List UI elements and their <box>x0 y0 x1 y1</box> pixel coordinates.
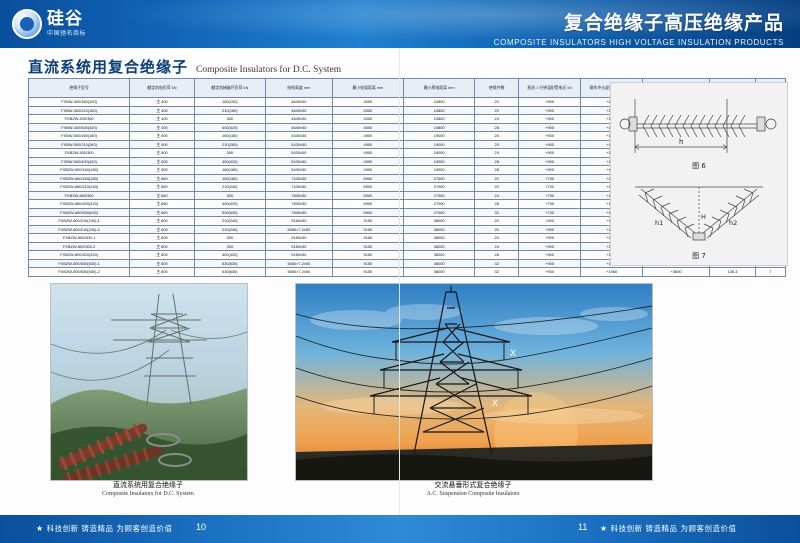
cell-value: 32 <box>475 259 519 268</box>
cell-model: FXBZW-400/300 <box>29 115 130 124</box>
caption-right-en: A.C. Suspension Composite Insulators <box>295 490 651 498</box>
col-header-2: 额定机械破坏负荷 kN <box>194 79 265 98</box>
cell-value: +900 <box>519 115 581 124</box>
cell-value: 9150 <box>332 242 403 251</box>
cell-model: FXBZW-500/300 <box>29 149 130 158</box>
caption-left-en: Composite Insulators for D.C. System <box>50 490 246 498</box>
cell-value: 210(260) <box>194 140 265 149</box>
cell-value: 300 <box>194 149 265 158</box>
cell-value: 6900 <box>332 191 403 200</box>
cell-model: FXBW-500/160(180) <box>29 132 130 141</box>
cell-value: +730 <box>519 191 581 200</box>
cell-value: 28 <box>475 123 519 132</box>
cell-value: 4900 <box>332 140 403 149</box>
col-header-0: 绝缘子型号 <box>29 79 130 98</box>
cell-model: FXBW-400/210(160) <box>29 106 130 115</box>
company-logo: 硅谷 中国驰名商标 <box>12 4 130 44</box>
page-header: 硅谷 中国驰名商标 复合绝缘子高压绝缘产品 COMPOSITE INSULATO… <box>0 0 800 48</box>
cell-value: 4000 <box>332 98 403 107</box>
cell-value: 24 <box>475 115 519 124</box>
cell-value: 主 800 <box>130 234 194 243</box>
cell-value: +3600 <box>643 268 710 277</box>
cell-value: 7830±50 <box>265 200 332 209</box>
star-icon-right: ★ <box>600 524 608 533</box>
cell-value: 主 800 <box>130 259 194 268</box>
cell-value: 136.3 <box>710 268 756 277</box>
section-heading: 直流系统用复合绝缘子 Composite Insulators for D.C.… <box>28 56 772 80</box>
cell-model: FXBZW-800/400(420) <box>29 251 130 260</box>
cell-value: 20 <box>475 217 519 226</box>
cell-model: FXBZW-800/300-1 <box>29 234 130 243</box>
cell-model: FXBZW-660/400(420) <box>29 200 130 209</box>
col-header-7: 直流 1 分钟湿耐受电压 kV <box>519 79 581 98</box>
cell-value: 9160±50 <box>265 242 332 251</box>
col-header-6: 绝缘件数 <box>475 79 519 98</box>
footer-slogan-right-text: 科技创新 铸造精品 为顾客创造价值 <box>611 524 737 533</box>
cell-value: 主 500 <box>130 157 194 166</box>
cell-value: +900 <box>519 166 581 175</box>
page-gutter <box>399 48 400 515</box>
cell-value: 210(240) <box>194 225 265 234</box>
cell-value: 9150 <box>332 251 403 260</box>
footer-slogan-left-text: 科技创新 铸造精品 为顾客创造价值 <box>47 524 173 533</box>
cell-value: 主 660 <box>130 208 194 217</box>
cell-value: 4640±50 <box>265 115 332 124</box>
cell-value: +900 <box>519 259 581 268</box>
cell-value: +900 <box>519 106 581 115</box>
cell-model: FXBZW-500/160(180) <box>29 166 130 175</box>
cell-value: 10800 <box>404 123 475 132</box>
cell-value: 400(420) <box>194 157 265 166</box>
cell-value: 27000 <box>404 183 475 192</box>
caption-right-cn: 交流悬垂形式复合绝缘子 <box>295 481 651 490</box>
footer-slogan-left: ★科技创新 铸造精品 为顾客创造价值 <box>36 523 172 534</box>
cell-value: 4900 <box>332 157 403 166</box>
cell-value: 36000 <box>404 217 475 226</box>
header-title-en: COMPOSITE INSULATORS HIGH VOLTAGE INSULA… <box>494 38 784 47</box>
cell-model: FXBZW-800/300-2 <box>29 242 130 251</box>
cell-value: 主 400 <box>130 106 194 115</box>
cell-value: 20 <box>475 106 519 115</box>
cell-value: +1960 <box>581 268 643 277</box>
logo-mark-icon <box>12 9 42 39</box>
cell-value: 7830±50 <box>265 191 332 200</box>
cell-value: 27000 <box>404 191 475 200</box>
cell-value: +730 <box>519 200 581 209</box>
caption-left-cn: 直流系统用复合绝缘子 <box>50 481 246 490</box>
figure-7-label: 图 7 <box>611 251 787 261</box>
cell-value: 36000 <box>404 242 475 251</box>
header-title: 复合绝缘子高压绝缘产品 COMPOSITE INSULATORS HIGH VO… <box>494 8 784 47</box>
dim-h-label: h <box>679 138 683 146</box>
cell-value: +900 <box>519 98 581 107</box>
cell-value: +900 <box>519 157 581 166</box>
cell-value: 5430±50 <box>265 132 332 141</box>
cell-value: 28 <box>475 157 519 166</box>
page-number-left: 10 <box>196 522 206 532</box>
cell-value: +730 <box>519 183 581 192</box>
cell-value: +900 <box>519 268 581 277</box>
cell-model: FXBZW-800/210(240)-1 <box>29 217 130 226</box>
cell-value: 32 <box>475 268 519 277</box>
cell-value: 160(100) <box>194 98 265 107</box>
cell-value: 5430±50 <box>265 140 332 149</box>
page-number-right: 11 <box>578 522 587 532</box>
cell-value: 28 <box>475 166 519 175</box>
cell-value: 36000 <box>404 259 475 268</box>
photo-marker-1: X <box>510 348 516 358</box>
cell-value: 530(630) <box>194 208 265 217</box>
cell-value: 5080×7.2±50 <box>265 259 332 268</box>
col-header-5: 最小爬电距离 mm <box>404 79 475 98</box>
cell-value: 400(420) <box>194 123 265 132</box>
logo-subtitle: 中国驰名商标 <box>47 31 86 37</box>
cell-value: 主 400 <box>130 123 194 132</box>
cell-value: 400(420) <box>194 200 265 209</box>
cell-value: 9150 <box>332 225 403 234</box>
cell-value: 9150 <box>332 217 403 226</box>
cell-value: 19000 <box>404 140 475 149</box>
cell-value: 24 <box>475 234 519 243</box>
cell-value: 210(240) <box>194 183 265 192</box>
cell-value: 300 <box>194 115 265 124</box>
cell-value: 7430±50 <box>265 183 332 192</box>
cell-value: 28 <box>475 251 519 260</box>
cell-value: 主 500 <box>130 166 194 175</box>
cell-value: 主 800 <box>130 251 194 260</box>
photo-dc-insulators <box>50 283 248 481</box>
cell-value: +900 <box>519 242 581 251</box>
cell-model: FXBZW-800/210(240)-2 <box>29 225 130 234</box>
cell-model: FXBZW-660/160(180) <box>29 174 130 183</box>
cell-value: 9160±50 <box>265 251 332 260</box>
cell-value: 20 <box>475 140 519 149</box>
cell-value: +900 <box>519 225 581 234</box>
logo-name-cn: 硅谷 <box>47 11 86 29</box>
cell-value: 24 <box>475 191 519 200</box>
cell-value: 27000 <box>404 200 475 209</box>
table-row: FXBZW-800/530(630)-2主 800530(630)5080×7.… <box>29 268 786 277</box>
cell-model: FXBZW-660/210(240) <box>29 183 130 192</box>
page-footer: ★科技创新 铸造精品 为顾客创造价值 10 11 ★科技创新 铸造精品 为顾客创… <box>0 515 800 543</box>
cell-value: 6900 <box>332 208 403 217</box>
cell-value: 20 <box>475 98 519 107</box>
cell-value: 28 <box>475 200 519 209</box>
cell-model: FXBZW-800/530(630)-1 <box>29 259 130 268</box>
photo-caption-right: 交流悬垂形式复合绝缘子 A.C. Suspension Composite In… <box>295 481 651 499</box>
cell-value: 24 <box>475 242 519 251</box>
cell-value: 24 <box>475 149 519 158</box>
dim-H-label: H <box>701 213 706 221</box>
cell-value: 32 <box>475 208 519 217</box>
cell-value: +900 <box>519 123 581 132</box>
cell-model: FXBZW-660/530(630) <box>29 208 130 217</box>
cell-value: +900 <box>519 140 581 149</box>
cell-value: 主 400 <box>130 115 194 124</box>
cell-value: 6900 <box>332 183 403 192</box>
cell-value: 6900 <box>332 174 403 183</box>
cell-value: 400(420) <box>194 251 265 260</box>
cell-value: 19000 <box>404 132 475 141</box>
figure-6-label: 图 6 <box>611 161 787 171</box>
cell-value: 4640±50 <box>265 106 332 115</box>
cell-value: 9160±50 <box>265 234 332 243</box>
cell-value: +900 <box>519 217 581 226</box>
cell-value: 20 <box>475 174 519 183</box>
cell-value: 主 660 <box>130 200 194 209</box>
section-title-cn: 直流系统用复合绝缘子 <box>28 56 188 77</box>
section-title-en: Composite Insulators for D.C. System <box>196 65 341 75</box>
cell-value: 36000 <box>404 268 475 277</box>
cell-value: 4000 <box>332 106 403 115</box>
cell-model: FXBW-400/400(420) <box>29 123 130 132</box>
cell-value: 20 <box>475 225 519 234</box>
cell-value: 主 800 <box>130 225 194 234</box>
cell-value: 5080×7.2±50 <box>265 268 332 277</box>
photo-caption-left: 直流系统用复合绝缘子 Composite Insulators for D.C.… <box>50 481 246 499</box>
cell-value: 4000 <box>332 123 403 132</box>
cell-value: +900 <box>519 132 581 141</box>
cell-value: 5430±50 <box>265 149 332 158</box>
cell-value: 4000 <box>332 115 403 124</box>
header-title-cn: 复合绝缘子高压绝缘产品 <box>494 8 784 35</box>
cell-value: 5430±50 <box>265 166 332 175</box>
cell-value: 36000 <box>404 234 475 243</box>
cell-value: 210(240) <box>194 217 265 226</box>
figure-panel: h <box>610 82 788 266</box>
cell-model: FXBW-400/160(100) <box>29 98 130 107</box>
cell-value: 7 <box>756 268 786 277</box>
cell-value: 19000 <box>404 149 475 158</box>
cell-value: 300 <box>194 191 265 200</box>
cell-value: 9150 <box>332 234 403 243</box>
footer-slogan-right: ★科技创新 铸造精品 为顾客创造价值 <box>600 523 736 534</box>
cell-value: 20 <box>475 132 519 141</box>
cell-value: 210(160) <box>194 106 265 115</box>
cell-value: 10800 <box>404 98 475 107</box>
cell-value: 20 <box>475 183 519 192</box>
cell-value: 10800 <box>404 106 475 115</box>
cell-value: 530(630) <box>194 259 265 268</box>
cell-value: 10800 <box>404 115 475 124</box>
cell-value: 主 500 <box>130 149 194 158</box>
cell-model: FXBW-500/400(420) <box>29 157 130 166</box>
col-header-1: 额定机电负荷 kN <box>130 79 194 98</box>
cell-value: 19000 <box>404 157 475 166</box>
insulator-diagram-icon: h <box>611 83 787 265</box>
col-header-3: 结构高度 mm <box>265 79 332 98</box>
cell-value: 160(180) <box>194 174 265 183</box>
cell-value: 300 <box>194 234 265 243</box>
cell-value: 160(180) <box>194 166 265 175</box>
photo-marker-2: X <box>492 398 498 408</box>
cell-value: 7430±50 <box>265 174 332 183</box>
cell-value: 主 660 <box>130 191 194 200</box>
dim-h2-label: h2 <box>729 219 737 227</box>
cell-value: 7830±50 <box>265 208 332 217</box>
cell-value: 19000 <box>404 166 475 175</box>
cell-value: 27000 <box>404 174 475 183</box>
cell-value: 主 800 <box>130 242 194 251</box>
dim-h1-label: h1 <box>655 219 663 227</box>
cell-value: 9160±50 <box>265 217 332 226</box>
photo-ac-suspension: X X <box>295 283 653 481</box>
cell-value: 6900 <box>332 200 403 209</box>
cell-value: 27000 <box>404 208 475 217</box>
cell-value: 5430±50 <box>265 157 332 166</box>
cell-value: 4900 <box>332 132 403 141</box>
cell-model: FXBZW-800/530(630)-2 <box>29 268 130 277</box>
cell-value: +730 <box>519 208 581 217</box>
cell-value: 主 800 <box>130 217 194 226</box>
cell-value: +900 <box>519 149 581 158</box>
cell-value: 9150 <box>332 268 403 277</box>
cell-value: 160(180) <box>194 132 265 141</box>
cell-model: FXBW-500/210(260) <box>29 140 130 149</box>
cell-value: 4640±50 <box>265 98 332 107</box>
cell-value: 300 <box>194 242 265 251</box>
cell-value: 主 660 <box>130 174 194 183</box>
col-header-4: 最小电弧距离 mm <box>332 79 403 98</box>
cell-value: 4900 <box>332 149 403 158</box>
catalog-page: 硅谷 中国驰名商标 复合绝缘子高压绝缘产品 COMPOSITE INSULATO… <box>0 0 800 543</box>
cell-model: FXBZW-660/300 <box>29 191 130 200</box>
star-icon-left: ★ <box>36 524 44 533</box>
cell-value: 主 500 <box>130 132 194 141</box>
cell-value: 主 660 <box>130 183 194 192</box>
cell-value: 5080×7.2±50 <box>265 225 332 234</box>
cell-value: 9150 <box>332 259 403 268</box>
cell-value: 530(630) <box>194 268 265 277</box>
cell-value: 36000 <box>404 251 475 260</box>
cell-value: 4900 <box>332 166 403 175</box>
cell-value: +900 <box>519 234 581 243</box>
cell-value: 主 500 <box>130 140 194 149</box>
cell-value: 主 400 <box>130 98 194 107</box>
cell-value: 4640±50 <box>265 123 332 132</box>
cell-value: 主 800 <box>130 268 194 277</box>
cell-value: 36000 <box>404 225 475 234</box>
cell-value: +730 <box>519 174 581 183</box>
cell-value: +900 <box>519 251 581 260</box>
